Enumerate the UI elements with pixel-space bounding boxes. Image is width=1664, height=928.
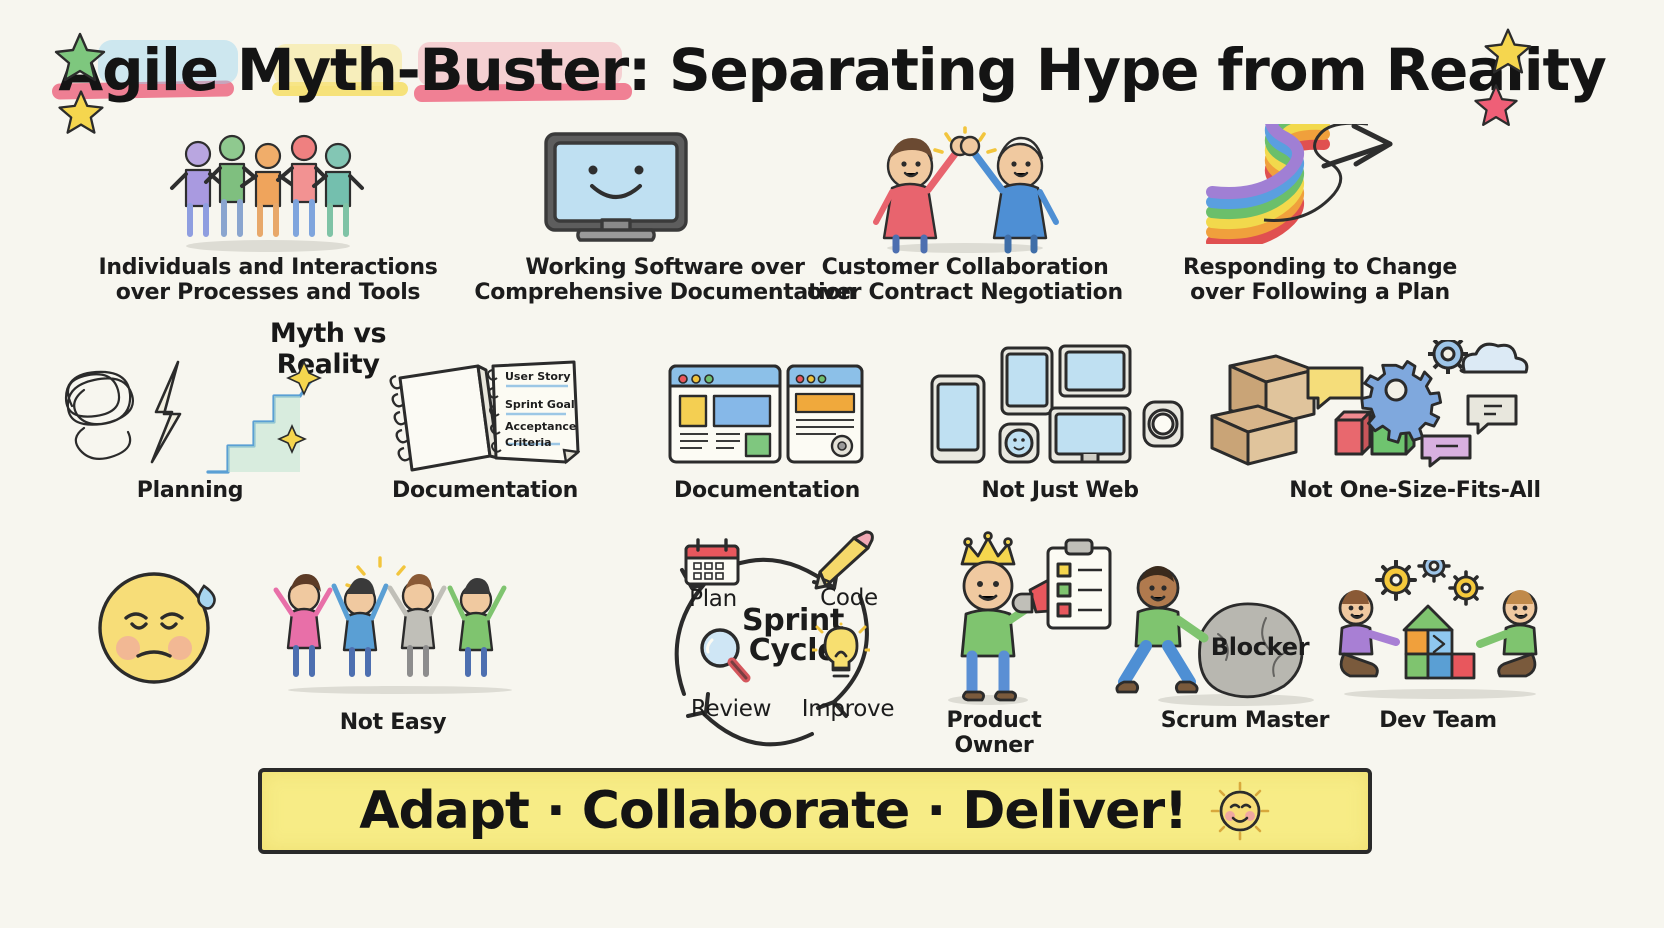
page-title: Agile Myth-Buster: Separating Hype from …: [58, 36, 1605, 104]
bottom-label-4: Dev Team: [1352, 708, 1524, 733]
bottom-label-0: Not Easy: [300, 710, 486, 735]
blocker-label: Blocker: [1192, 634, 1328, 662]
celebrating-team-icon: [272, 548, 528, 694]
myth-label-0: Planning: [90, 478, 290, 503]
myth-label-2: Documentation: [652, 478, 882, 503]
value-label-0: Individuals and Interactions over Proces…: [80, 255, 456, 306]
magnifier-icon: [696, 626, 752, 684]
star-yellow-left-icon: [56, 88, 106, 138]
calendar-icon: [682, 538, 742, 588]
bottom-label-3: Scrum Master: [1130, 708, 1360, 733]
pencil-icon: [812, 528, 876, 592]
people-holding-hands-icon: [168, 128, 368, 253]
star-yellow-top-right-icon: [1482, 26, 1534, 78]
scribble-lightning-steps-icon: [56, 356, 326, 476]
banner-text: Adapt · Collaborate · Deliver!: [359, 781, 1187, 841]
smiling-sun-icon: [1209, 780, 1271, 842]
smiling-monitor-icon: [540, 128, 692, 250]
sprint-step-label-review: Review: [678, 696, 784, 722]
boxes-blocks-gears-icon: [1196, 340, 1532, 472]
poster-canvas: Agile Myth-Buster: Separating Hype from …: [0, 0, 1664, 928]
sticky-line-3: Criteria: [505, 436, 552, 449]
rainbow-arrow-icon: [1204, 124, 1408, 244]
star-green-top-left-icon: [52, 30, 108, 86]
scrum-master-pushing-rock-icon: [1106, 556, 1326, 706]
myth-label-4: Not One-Size-Fits-All: [1250, 478, 1580, 503]
clipboard-checklist-icon: [1042, 538, 1116, 632]
myth-label-1: Documentation: [370, 478, 600, 503]
sprint-step-label-improve: Improve: [790, 696, 906, 722]
star-red-right-icon: [1472, 82, 1520, 130]
high-five-people-icon: [862, 126, 1068, 254]
closing-banner: Adapt · Collaborate · Deliver!: [258, 768, 1372, 854]
value-label-3: Responding to Change over Following a Pl…: [1165, 255, 1475, 306]
bottom-label-2: Product Owner: [910, 708, 1078, 759]
tired-face-icon: [92, 566, 222, 686]
sticky-line-0: User Story: [505, 370, 571, 383]
multi-devices-icon: [924, 340, 1190, 470]
sticky-line-1: Sprint Goal: [505, 398, 575, 411]
poster-title-row: Agile Myth-Buster: Separating Hype from …: [0, 22, 1664, 118]
sticky-note: User Story Sprint Goal Acceptance Criter…: [488, 358, 580, 466]
myth-label-3: Not Just Web: [960, 478, 1160, 503]
lightbulb-icon: [812, 622, 870, 684]
browser-windows-icon: [666, 360, 866, 468]
dev-team-building-blocks-icon: [1330, 560, 1548, 700]
value-label-2: Customer Collaboration over Contract Neg…: [790, 255, 1140, 306]
sticky-line-2: Acceptance: [505, 420, 576, 433]
